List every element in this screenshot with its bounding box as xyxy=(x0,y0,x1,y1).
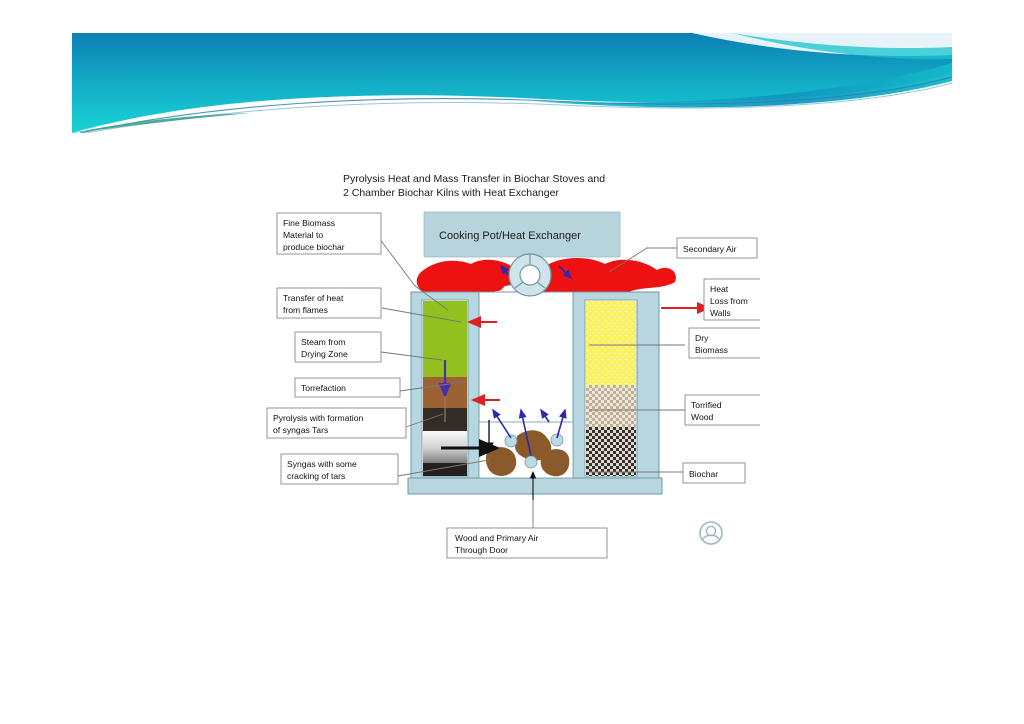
label-torrified-wood[interactable]: Torrified Wood xyxy=(685,395,760,425)
right-fuel-column xyxy=(585,300,637,476)
diagram-title-line1: Pyrolysis Heat and Mass Transfer in Bioc… xyxy=(343,173,605,185)
diagram-title-line2: 2 Chamber Biochar Kilns with Heat Exchan… xyxy=(343,187,559,199)
label-dry-biomass[interactable]: Dry Biomass xyxy=(689,328,760,358)
label-line: cracking of tars xyxy=(287,471,345,481)
label-line: Wood and Primary Air xyxy=(455,533,539,543)
label-pyrolysis-syngas-tars[interactable]: Pyrolysis with formation of syngas Tars xyxy=(267,408,406,438)
label-secondary-air[interactable]: Secondary Air xyxy=(677,238,757,258)
label-line: Secondary Air xyxy=(683,244,737,254)
left-fuel-column xyxy=(422,300,468,476)
label-line: produce biochar xyxy=(283,242,345,252)
label-line: Torrefaction xyxy=(301,383,346,393)
label-steam-from-drying-zone[interactable]: Steam from Drying Zone xyxy=(295,332,381,362)
zone-biochar xyxy=(586,427,636,476)
label-line: Biochar xyxy=(689,469,718,479)
label-torrefaction[interactable]: Torrefaction xyxy=(295,378,400,397)
pot-support-ring xyxy=(509,254,551,296)
label-line: Transfer of heat xyxy=(283,293,344,303)
zone-dry-biomass xyxy=(586,301,636,385)
label-line: Biomass xyxy=(695,345,728,355)
label-fine-biomass[interactable]: Fine Biomass Material to produce biochar xyxy=(277,213,381,254)
label-line: Pyrolysis with formation xyxy=(273,413,363,423)
label-line: Through Door xyxy=(455,545,508,555)
label-heat-loss-from-walls[interactable]: Heat Loss from Walls xyxy=(704,279,760,320)
label-line: Heat xyxy=(710,284,729,294)
label-line: Steam from xyxy=(301,337,345,347)
label-line: of syngas Tars xyxy=(273,425,328,435)
label-wood-and-primary-air[interactable]: Wood and Primary Air Through Door xyxy=(447,528,607,558)
cooking-pot-heat-exchanger: Cooking Pot/Heat Exchanger xyxy=(424,212,620,257)
zone-torrified-wood xyxy=(586,385,636,427)
label-syngas-cracking-tars[interactable]: Syngas with some cracking of tars xyxy=(281,454,398,484)
air-bubble-icon xyxy=(525,456,537,468)
label-line: Drying Zone xyxy=(301,349,348,359)
slide-banner xyxy=(72,33,952,133)
label-line: Syngas with some xyxy=(287,459,357,469)
label-line: Wood xyxy=(691,412,714,422)
label-line: Material to xyxy=(283,230,323,240)
cooking-pot-label: Cooking Pot/Heat Exchanger xyxy=(439,230,581,242)
label-line: Fine Biomass xyxy=(283,218,335,228)
banner-waves xyxy=(72,33,952,133)
label-line: Torrified xyxy=(691,400,722,410)
label-line: from flames xyxy=(283,305,328,315)
label-line: Loss from xyxy=(710,296,748,306)
air-circle-icon xyxy=(700,522,722,544)
label-transfer-of-heat[interactable]: Transfer of heat from flames xyxy=(277,288,381,318)
biochar-stove-diagram: Pyrolysis Heat and Mass Transfer in Bioc… xyxy=(265,160,760,570)
label-line: Walls xyxy=(710,308,731,318)
label-biochar[interactable]: Biochar xyxy=(683,463,745,483)
label-line: Dry xyxy=(695,333,709,343)
